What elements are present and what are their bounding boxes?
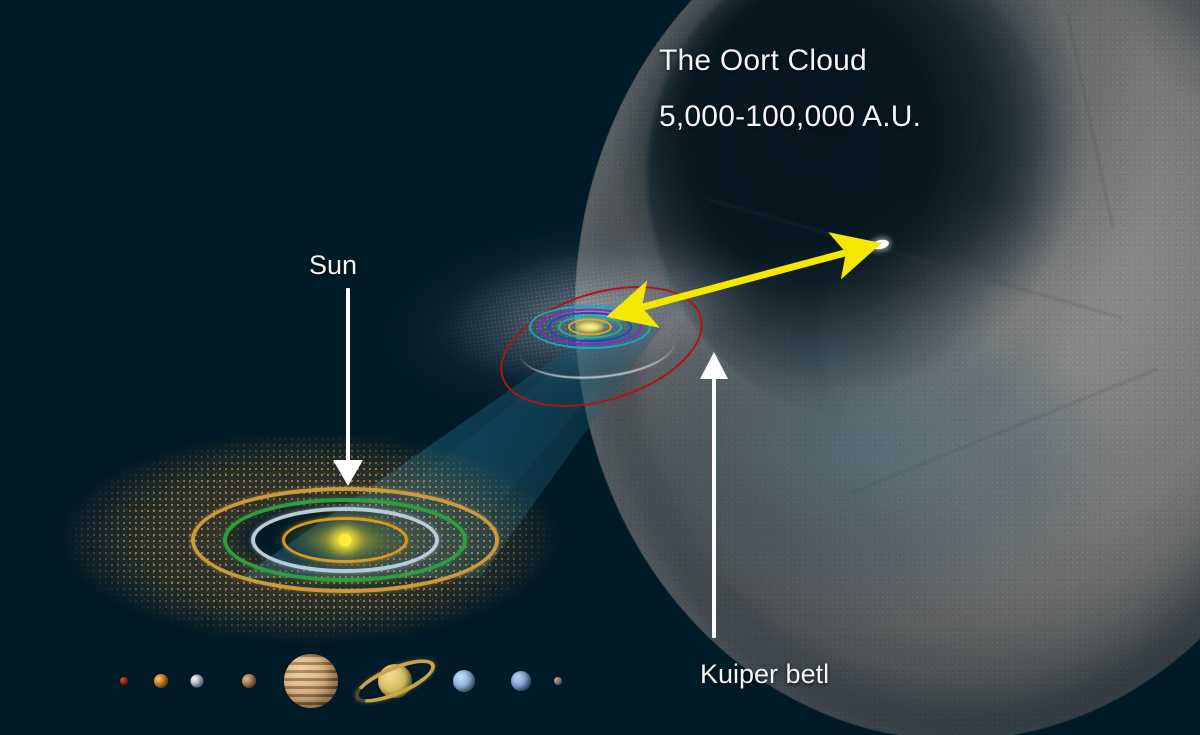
- planet-size-row: [0, 645, 1200, 715]
- venus-body: [154, 674, 168, 688]
- jupiter-bands: [284, 654, 338, 708]
- sun-label: Sun: [309, 250, 357, 281]
- distance-measurement-arrow: [595, 230, 895, 330]
- sun-pointer-head-icon: [333, 460, 363, 486]
- planetary-orbit-diagram: [190, 485, 500, 595]
- kuiper-pointer-head-icon: [700, 352, 728, 379]
- mars-body: [242, 674, 256, 688]
- sun-core: [339, 534, 352, 547]
- sun-pointer-shaft: [346, 288, 350, 466]
- mercury-body: [120, 677, 128, 685]
- kuiper-pointer-shaft: [712, 378, 716, 638]
- oort-cloud-distance-label: 5,000-100,000 A.U.: [659, 100, 921, 134]
- saturn-ring: [350, 651, 440, 711]
- earth-body: [191, 675, 204, 688]
- neptune-body: [511, 671, 531, 691]
- uranus-body: [453, 670, 475, 692]
- solar-system-diagram: The Oort Cloud 5,000-100,000 A.U. Sun Ku…: [0, 0, 1200, 735]
- pluto-body: [554, 677, 562, 685]
- oort-cloud-title: The Oort Cloud: [659, 44, 867, 78]
